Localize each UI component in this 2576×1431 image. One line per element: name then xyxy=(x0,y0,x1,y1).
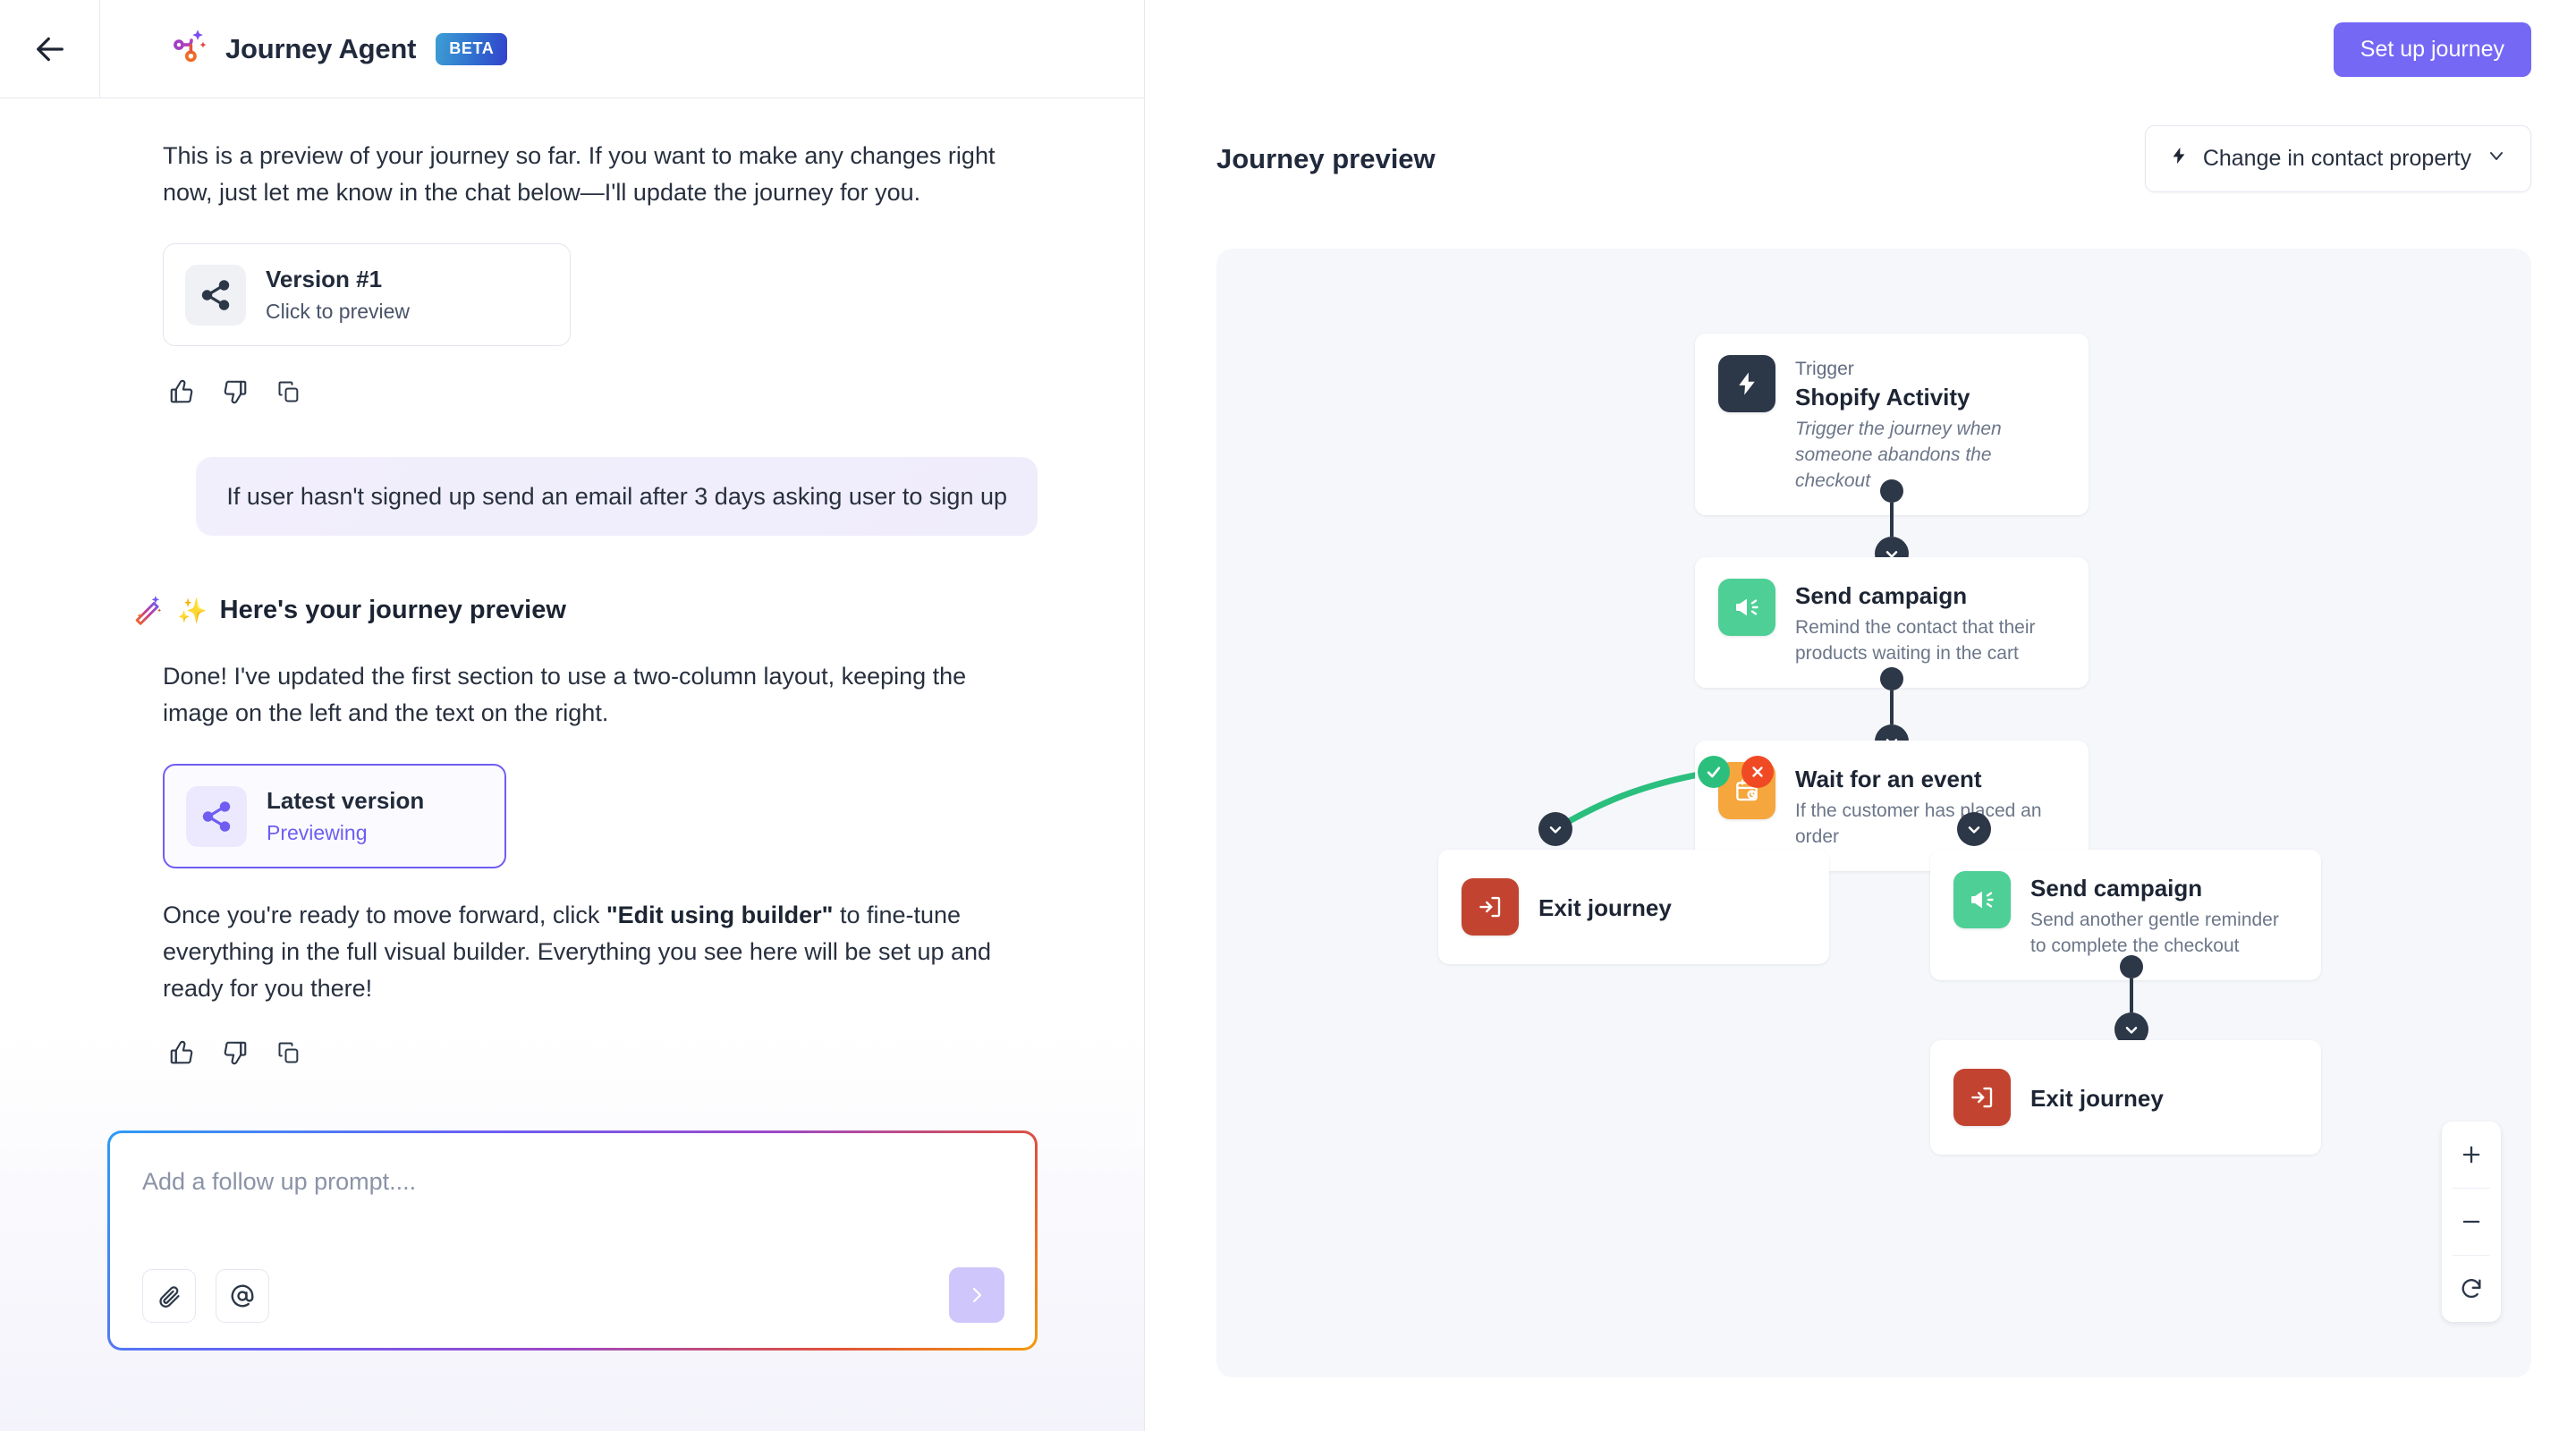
branch-no-badge[interactable] xyxy=(1741,756,1774,788)
chevron-down-icon xyxy=(2486,145,2507,173)
reset-rotate-button[interactable] xyxy=(2442,1256,2501,1322)
node-title: Send campaign xyxy=(1795,580,2065,611)
latest-version-status: Previewing xyxy=(267,818,424,847)
thumbs-down-icon[interactable] xyxy=(220,1037,250,1068)
zoom-in-button[interactable] xyxy=(2442,1122,2501,1188)
edge-start-dot xyxy=(2120,955,2143,978)
sparkles-emoji: ✨ xyxy=(177,597,208,625)
branch-right-arrow-icon[interactable] xyxy=(1957,812,1991,846)
brand: Journey Agent BETA xyxy=(100,26,507,72)
edge-campaign2-to-exit2 xyxy=(2111,955,2152,1046)
edge-line xyxy=(2130,978,2133,1012)
node-title: Exit journey xyxy=(1538,893,1672,923)
assistant-intro-message: This is a preview of your journey so far… xyxy=(163,138,1021,211)
megaphone-icon xyxy=(1953,871,2011,928)
chat-panel: This is a preview of your journey so far… xyxy=(0,0,1145,1431)
version-card-subtitle: Click to preview xyxy=(266,297,410,326)
page-title: Journey Agent xyxy=(225,33,416,65)
branch-yes-badge[interactable] xyxy=(1698,756,1730,788)
feedback-row-2 xyxy=(163,1037,1038,1068)
contact-property-value: Change in contact property xyxy=(2203,146,2471,172)
journey-agent-logo-icon xyxy=(170,26,211,72)
edge-start-dot xyxy=(1880,479,1903,503)
journey-agent-app: This is a preview of your journey so far… xyxy=(0,0,2576,1431)
exit-door-icon xyxy=(1953,1069,2011,1126)
preview-header: Set up journey xyxy=(1145,0,2576,98)
composer-tools xyxy=(142,1269,269,1323)
paragraph-2-pre: Once you're ready to move forward, click xyxy=(163,902,606,928)
zoom-out-button[interactable] xyxy=(2442,1189,2501,1255)
assistant-paragraph-1: Done! I've updated the first section to … xyxy=(163,658,1021,732)
node-description: Send another gentle reminder to complete… xyxy=(2030,907,2298,959)
at-mention-icon[interactable] xyxy=(216,1269,269,1323)
chat-composer: Add a follow up prompt.... xyxy=(107,1130,1038,1351)
assistant-paragraph-2: Once you're ready to move forward, click… xyxy=(163,897,1021,1007)
edge-line xyxy=(1890,690,1894,724)
assistant-heading: Here's your journey preview xyxy=(220,596,566,625)
lightning-bolt-icon xyxy=(1718,355,1775,412)
preview-title: Journey preview xyxy=(1216,143,1436,175)
preview-panel: Set up journey Journey preview Change in… xyxy=(1145,0,2576,1431)
latest-version-title: Latest version xyxy=(267,785,424,816)
node-title: Exit journey xyxy=(2030,1083,2164,1113)
node-title: Send campaign xyxy=(2030,873,2298,903)
node-title: Shopify Activity xyxy=(1795,382,2065,412)
node-kicker: Trigger xyxy=(1795,357,2065,382)
zoom-controls xyxy=(2442,1122,2501,1322)
version-card-v1[interactable]: Version #1 Click to preview xyxy=(163,243,571,346)
share-nodes-icon xyxy=(185,265,246,326)
set-up-journey-button[interactable]: Set up journey xyxy=(2334,22,2531,77)
share-nodes-icon xyxy=(186,786,247,847)
journey-canvas[interactable]: Trigger Shopify Activity Trigger the jou… xyxy=(1216,249,2531,1377)
edge-start-dot xyxy=(1880,667,1903,690)
preview-toolbar: Journey preview Change in contact proper… xyxy=(1145,125,2576,192)
thumbs-up-icon[interactable] xyxy=(166,377,197,407)
beta-badge: BETA xyxy=(436,33,507,65)
magic-wand-icon xyxy=(131,591,165,630)
node-title: Wait for an event xyxy=(1795,764,2065,794)
assistant-heading-row: ✨ Here's your journey preview xyxy=(131,591,1038,630)
thumbs-up-icon[interactable] xyxy=(166,1037,197,1068)
node-description: Remind the contact that their products w… xyxy=(1795,614,2065,666)
lightning-bolt-icon xyxy=(2169,144,2189,174)
user-message-bubble: If user hasn't signed up send an email a… xyxy=(196,457,1038,536)
copy-icon[interactable] xyxy=(274,1037,304,1068)
edit-using-builder-emphasis: "Edit using builder" xyxy=(606,902,834,928)
version-card-title: Version #1 xyxy=(266,264,410,294)
composer-placeholder[interactable]: Add a follow up prompt.... xyxy=(142,1165,1003,1198)
thumbs-down-icon[interactable] xyxy=(220,377,250,407)
edge-line xyxy=(1890,503,1894,537)
version-card-latest[interactable]: Latest version Previewing xyxy=(163,764,506,868)
megaphone-icon xyxy=(1718,579,1775,636)
contact-property-select[interactable]: Change in contact property xyxy=(2145,125,2531,192)
feedback-row-1 xyxy=(163,377,1038,407)
node-exit-journey-1[interactable]: Exit journey xyxy=(1438,850,1829,964)
journey-flow: Trigger Shopify Activity Trigger the jou… xyxy=(1216,249,2531,1377)
node-exit-journey-2[interactable]: Exit journey xyxy=(1930,1040,2321,1155)
composer-inner[interactable]: Add a follow up prompt.... xyxy=(110,1133,1035,1348)
branch-left-arrow-icon[interactable] xyxy=(1538,812,1572,846)
back-button[interactable] xyxy=(0,0,100,97)
send-button[interactable] xyxy=(949,1267,1004,1323)
node-description: If the customer has placed an order xyxy=(1795,798,2065,850)
app-header: Journey Agent BETA xyxy=(0,0,1145,98)
paperclip-icon[interactable] xyxy=(142,1269,196,1323)
node-description: Trigger the journey when someone abandon… xyxy=(1795,416,2065,494)
exit-door-icon xyxy=(1462,878,1519,936)
copy-icon[interactable] xyxy=(274,377,304,407)
